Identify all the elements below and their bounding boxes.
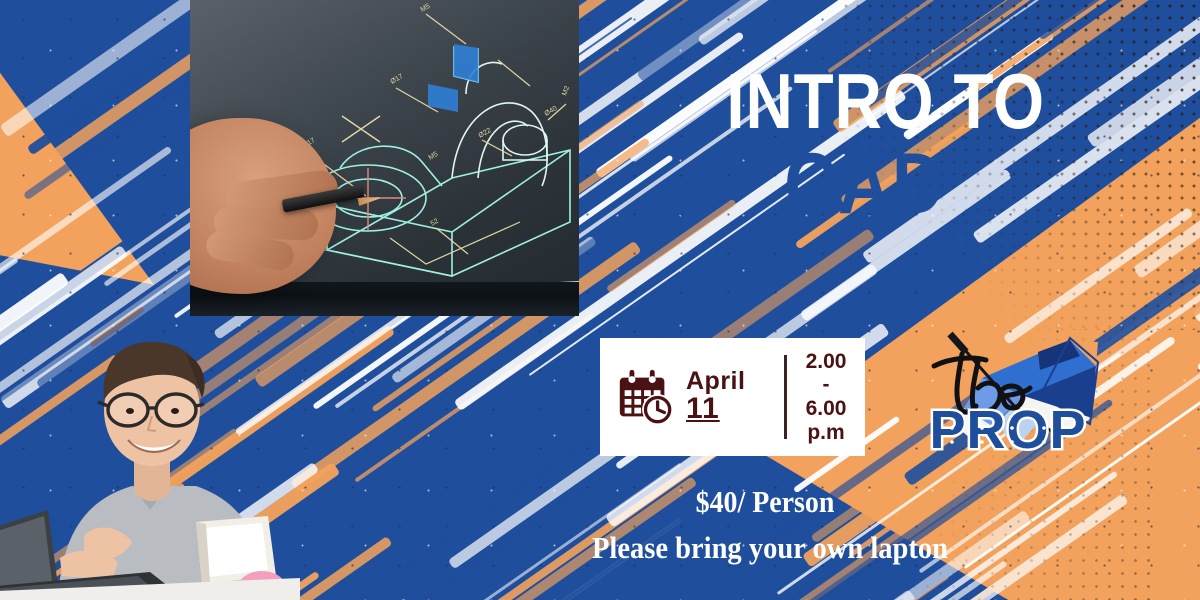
time-end: 6.00 — [787, 397, 865, 421]
time-dash: - — [787, 373, 865, 397]
logo-main-word: PROP — [929, 400, 1086, 460]
title-block: INTRO TO CAD — [700, 66, 1030, 225]
prop-logo-illustration: PROP — [920, 322, 1100, 472]
date-text: April 11 — [686, 369, 745, 425]
man-with-laptop-illustration — [0, 300, 300, 600]
man-with-laptop-photo — [0, 300, 300, 600]
svg-text:M2: M2 — [561, 85, 571, 97]
title-line-1: INTRO TO — [726, 66, 1003, 138]
date-day: 11 — [686, 394, 745, 425]
calendar-clock-icon — [614, 366, 676, 428]
svg-text:52: 52 — [430, 218, 440, 228]
the-prop-logo: PROP — [920, 322, 1100, 472]
time-period: p.m — [787, 421, 865, 445]
time-start: 2.00 — [787, 350, 865, 374]
title-line-2: CAD — [726, 144, 1003, 226]
svg-text:Ø17: Ø17 — [390, 73, 405, 86]
price-text: $40/ Person — [617, 484, 914, 520]
svg-text:M5: M5 — [428, 151, 440, 162]
svg-text:PROP: PROP — [929, 400, 1086, 460]
date-section: April 11 — [600, 366, 784, 428]
time-section: 2.00 - 6.00 p.m — [787, 350, 865, 445]
event-info-box: April 11 2.00 - 6.00 p.m — [600, 338, 865, 456]
note-text: Please bring your own lapton — [577, 530, 963, 566]
svg-text:M5: M5 — [420, 3, 432, 14]
date-month: April — [686, 369, 745, 395]
poster-canvas: Ø17 Ø17 M5 Ø22 M5 Ø40 52 M2 — [0, 0, 1200, 600]
cad-drawing-photo: Ø17 Ø17 M5 Ø22 M5 Ø40 52 M2 — [190, 0, 579, 316]
svg-text:Ø40: Ø40 — [544, 105, 559, 118]
